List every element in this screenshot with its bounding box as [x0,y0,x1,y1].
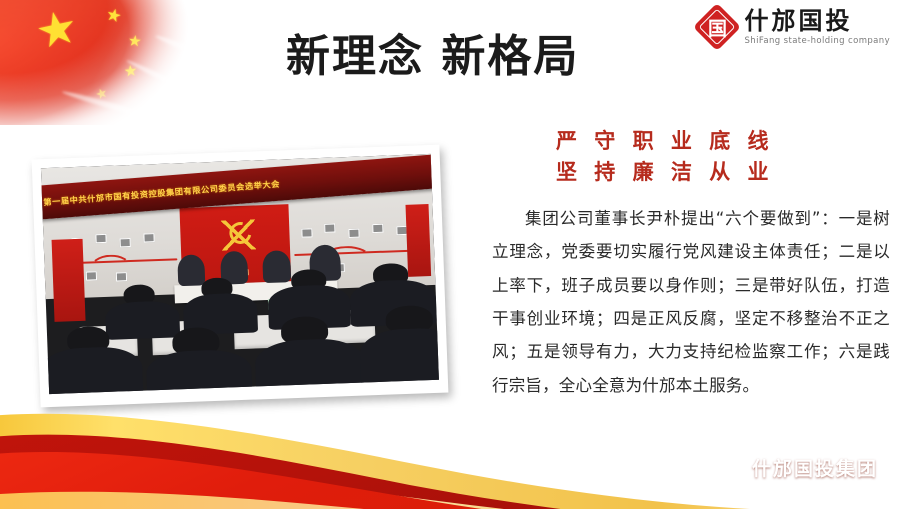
timeline-card [325,223,336,232]
flag-sheen [0,0,290,125]
timeline-card [95,234,106,243]
ribbon-svg [0,389,900,509]
slogan-block: 严 守 职 业 底 线 坚 持 廉 洁 从 业 [556,126,886,188]
slogan-line-2: 坚 持 廉 洁 从 业 [556,157,886,188]
flag-star-4: ★ [94,86,109,102]
wechat-bubble-large [718,459,735,473]
timeline-card [143,233,154,242]
brand-name-en: ShiFang state-holding company [744,37,890,46]
ribbon-red-main [0,452,900,509]
flag-star-large: ★ [32,2,82,56]
attendee-body [359,327,439,387]
timeline-card [349,228,360,237]
attendee-body [104,300,179,340]
stage-person [262,250,290,283]
wechat-account-name: 什邡国投集团 [752,454,878,481]
flag-streak-3 [61,89,168,125]
brand-name-cn: 什邡国投 [744,9,890,33]
flag-streak-2 [125,58,244,120]
bottom-ribbon-decoration: 什邡国投集团 [0,389,900,509]
ribbon-gold-highlight [0,492,900,509]
wechat-icon [718,458,744,477]
seal-glyph: 国 [697,7,737,47]
brand-text: 什邡国投 ShiFang state-holding company [744,9,890,46]
china-flag-decoration: ★ ★ ★ ★ ★ [0,0,330,125]
ribbon-red-dark [0,435,900,509]
body-paragraph: 集团公司董事长尹朴提出“六个要做到”：一是树立理念，党委要切实履行党风建设主体责… [492,202,890,402]
company-seal-icon: 国 [697,7,737,47]
timeline-card [372,224,383,233]
slogan-line-1: 严 守 职 业 底 线 [556,126,886,157]
wechat-account-tag: 什邡国投集团 [718,454,878,481]
flag-red-field [0,0,300,125]
flag-star-1: ★ [104,6,123,26]
ribbon-gold-line [0,467,900,509]
flag-star-2: ★ [127,33,142,49]
timeline-line [68,258,177,264]
timeline-card [119,238,130,247]
flag-fade-overlay [0,0,330,125]
attendee-body [145,349,252,394]
ribbon-gold-upper [0,414,900,509]
flag-streak-1 [154,32,296,96]
brand-logo: 国 什邡国投 ShiFang state-holding company [697,7,890,47]
wechat-bubble-small [731,466,744,477]
stage-person [177,254,205,286]
meeting-photo-frame: 入党誓词 第一届中共什邡市国有投资控股集团有限公司委员会选举大会 [32,145,449,408]
attendee-body [41,346,143,394]
ribbon-waves [0,389,900,509]
party-emblem-icon [221,219,256,250]
meeting-photo: 入党誓词 第一届中共什邡市国有投资控股集团有限公司委员会选举大会 [41,154,439,394]
timeline-card [301,228,312,237]
attendee-body [254,338,365,394]
slide-root: ★ ★ ★ ★ ★ 新理念 新格局 国 什邡国投 ShiFang state-h… [0,0,900,509]
page-title: 新理念 新格局 [286,20,579,84]
flag-star-3: ★ [123,63,138,79]
photo-audience [45,262,439,394]
